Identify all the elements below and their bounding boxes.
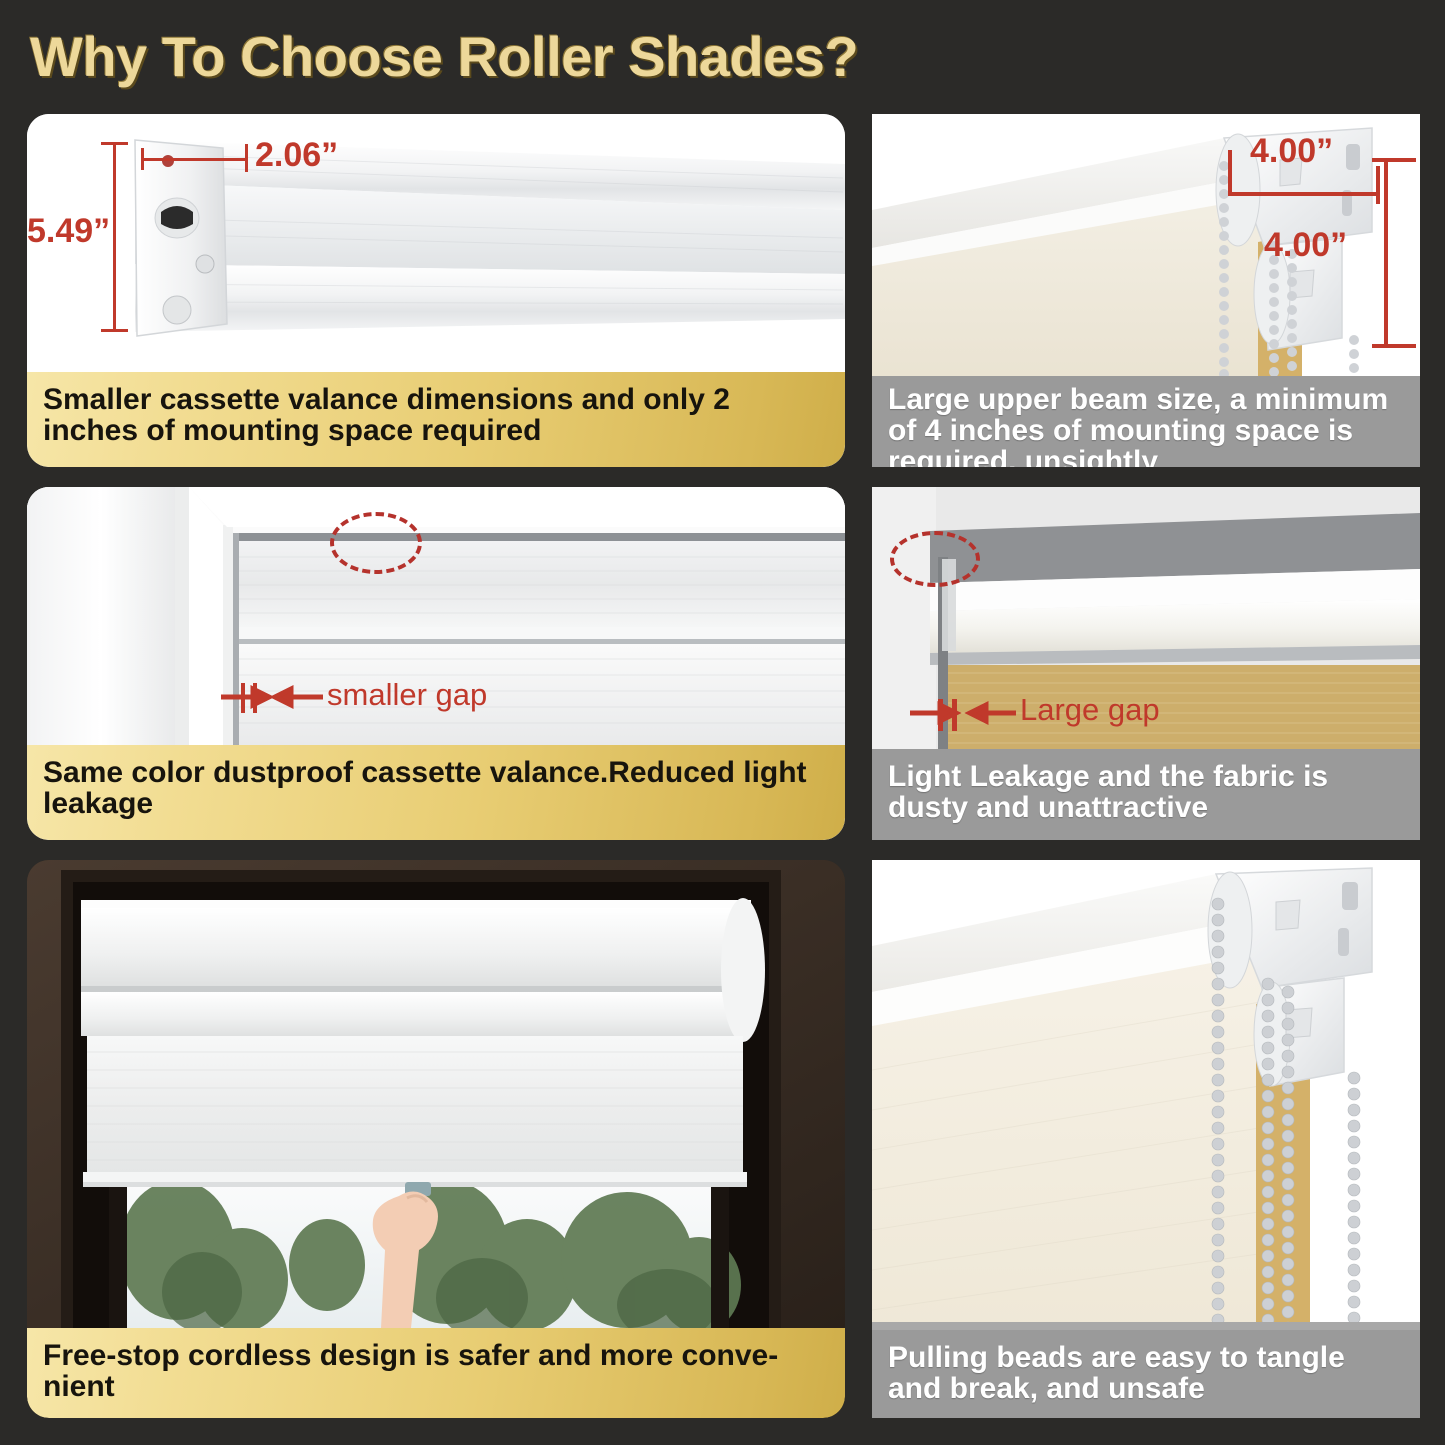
panel-pulling-beads-tangle: Pulling beads are easy to tangle and bre… — [872, 860, 1420, 1418]
roller-shade-beads-illustration — [872, 860, 1420, 1330]
beam-width-dimension-line — [1228, 192, 1380, 196]
bead-chain-c — [1287, 249, 1297, 371]
caption-text: Large upper beam size, a minimum of 4 in… — [888, 384, 1404, 467]
window-scene-illustration — [27, 860, 845, 1328]
page-title: Why To Choose Roller Shades? — [30, 22, 1130, 92]
width-dimension-label: 2.06” — [255, 136, 338, 175]
beam-height-dimension-label: 4.00” — [1264, 226, 1347, 265]
height-dimension-tick-top — [101, 142, 128, 145]
panel-cassette-valance-dimensions: 5.49” 2.06” Smaller cassette valance dim… — [27, 114, 845, 467]
gap-arrows — [908, 695, 1020, 735]
beam-width-dimension-label: 4.00” — [1250, 132, 1333, 171]
panel-photo-dustproof-valance: smaller gap — [27, 487, 845, 745]
width-dimension-line — [141, 158, 247, 161]
bead-chain-d — [1349, 335, 1359, 373]
beam-width-tick-right — [1376, 166, 1380, 204]
width-dimension-tick-left — [141, 148, 144, 170]
beam-height-dimension-line — [1384, 158, 1388, 348]
cassette-valance-illustration — [27, 114, 845, 372]
width-dimension-tick-right — [245, 144, 248, 172]
gap-callout-label: Large gap — [1020, 692, 1160, 728]
panel-photo-cassette-valance: 5.49” 2.06” — [27, 114, 845, 372]
height-dimension-line — [113, 142, 116, 332]
infographic-page: Why To Choose Roller Shades? — [0, 0, 1445, 1445]
caption-text: Pulling beads are easy to tangle and bre… — [888, 1342, 1404, 1404]
panel-large-upper-beam: 4.00” 4.00” Large upper beam size, a min… — [872, 114, 1420, 467]
caption-text: Light Leakage and the fabric is dusty an… — [888, 761, 1404, 823]
panel-photo-light-leakage: Large gap — [872, 487, 1420, 749]
caption-text: Same color dustproof cassette valance.Re… — [43, 757, 829, 819]
gap-highlight-ellipse-right — [890, 531, 980, 587]
panel-free-stop-cordless-design: Free-stop cordless design is safer and m… — [27, 860, 845, 1418]
beam-height-tick-bottom — [1372, 344, 1416, 348]
gap-callout-label: smaller gap — [327, 677, 487, 713]
panel-caption-light-leakage: Light Leakage and the fabric is dusty an… — [872, 749, 1420, 840]
panel-photo-pulling-beads — [872, 860, 1420, 1330]
beam-height-tick-top — [1372, 158, 1416, 162]
height-dimension-label: 5.49” — [27, 212, 110, 251]
gap-highlight-ellipse-left — [330, 512, 422, 574]
panel-caption-cordless-design: Free-stop cordless design is safer and m… — [27, 1328, 845, 1418]
caption-text: Free-stop cordless design is safer and m… — [43, 1340, 829, 1402]
panel-caption-large-upper-beam: Large upper beam size, a minimum of 4 in… — [872, 376, 1420, 467]
panel-caption-cassette-valance: Smaller cassette valance dimensions and … — [27, 372, 845, 467]
panel-caption-pulling-beads: Pulling beads are easy to tangle and bre… — [872, 1330, 1420, 1418]
panel-dustproof-cassette-valance: smaller gap Same color dustproof cassett… — [27, 487, 845, 840]
panel-light-leakage-dusty-fabric: Large gap Light Leakage and the fabric i… — [872, 487, 1420, 840]
panel-photo-cordless-window — [27, 860, 845, 1328]
height-dimension-tick-bottom — [101, 329, 128, 332]
beam-width-tick-left — [1228, 150, 1232, 196]
caption-text: Smaller cassette valance dimensions and … — [43, 384, 829, 446]
panel-photo-large-upper-beam: 4.00” 4.00” — [872, 114, 1420, 376]
panel-caption-dustproof-valance: Same color dustproof cassette valance.Re… — [27, 745, 845, 840]
gap-arrows — [219, 679, 329, 719]
